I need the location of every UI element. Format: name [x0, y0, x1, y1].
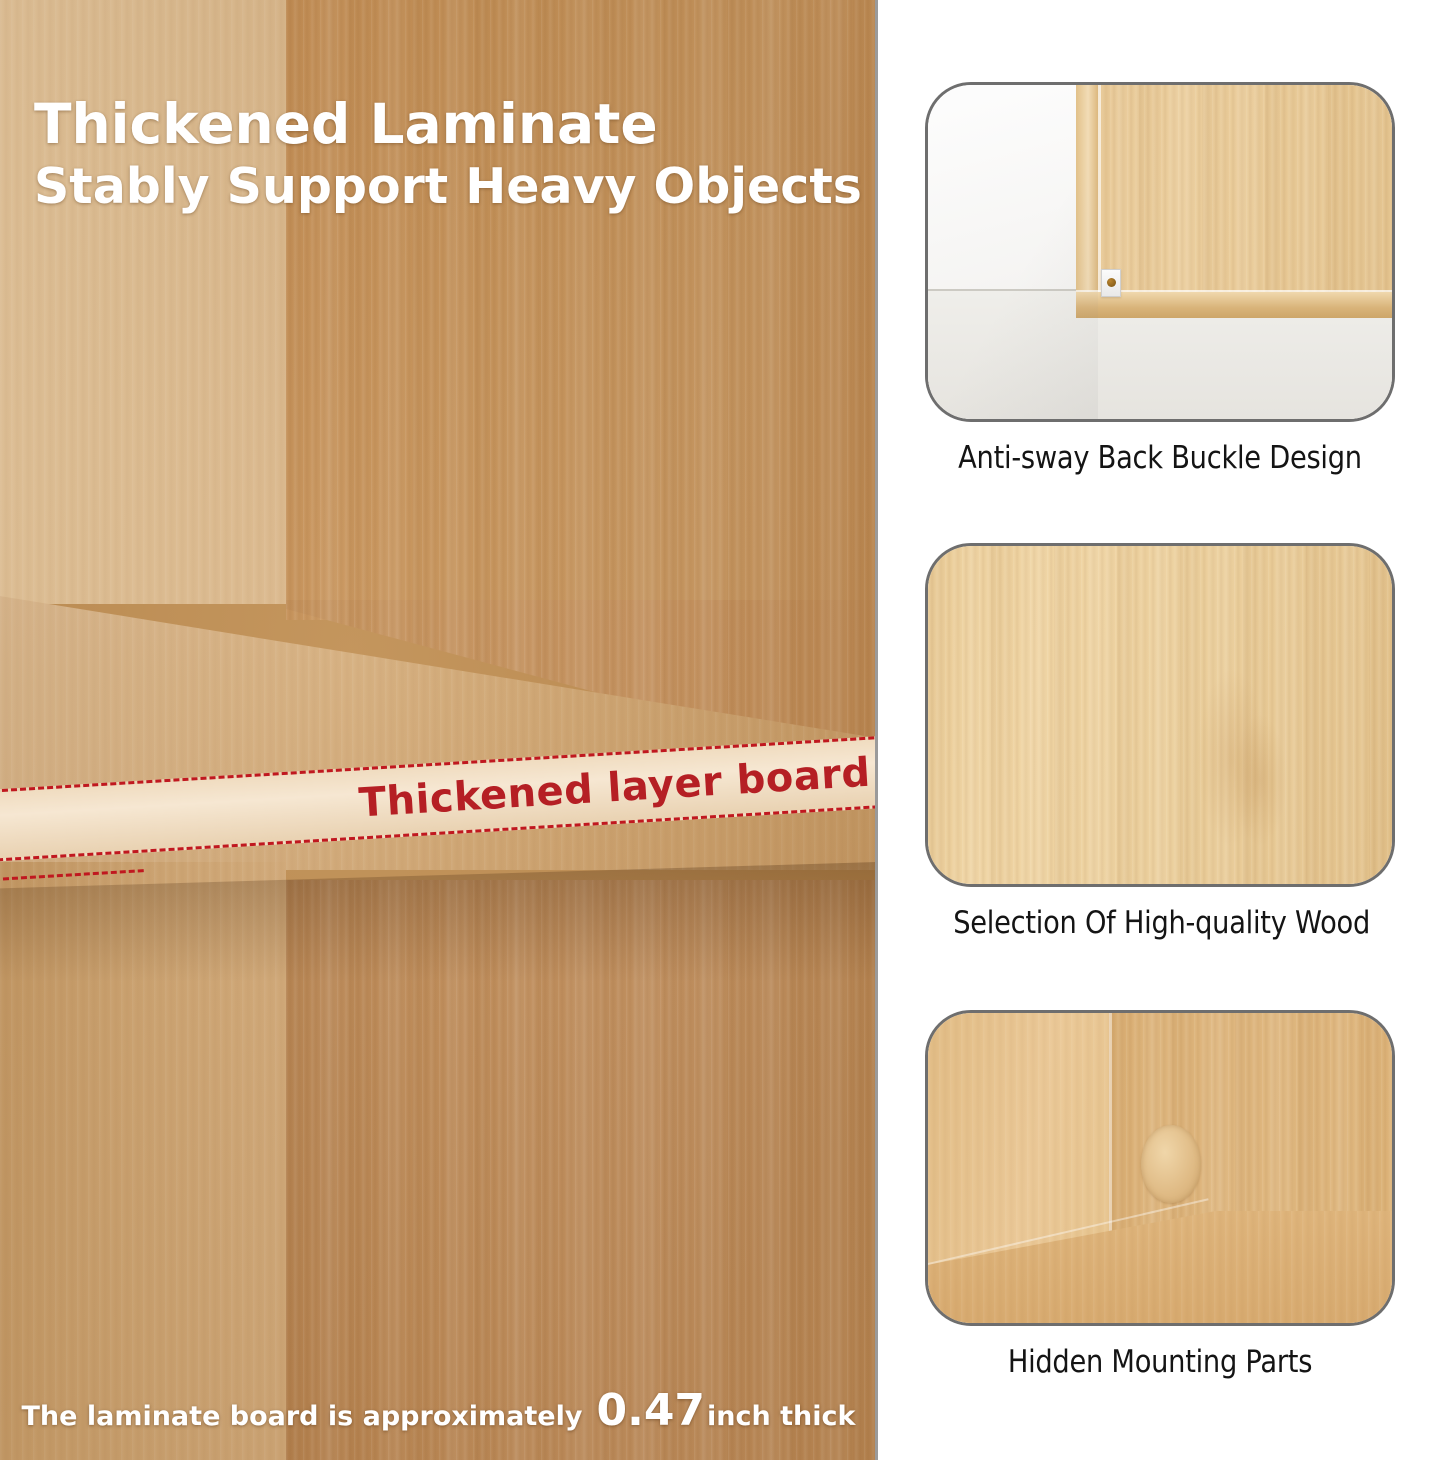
- cabinet-left-side-panel-lower: [0, 862, 286, 1460]
- panel-divider: [875, 0, 878, 1460]
- inner-corner-seam: [1109, 1013, 1112, 1249]
- cabinet-left-side-panel-upper: [0, 0, 286, 604]
- wood-grain-photo: [925, 543, 1395, 887]
- wood-grain-texture: [1076, 85, 1392, 313]
- screw-icon: [1107, 278, 1116, 287]
- hero-shelf-photo: Thickened layer board Thickened Laminate…: [0, 0, 877, 1460]
- back-buckle-photo: [925, 82, 1395, 422]
- panel-seam-highlight: [1098, 85, 1101, 299]
- wood-knot-mark: [1234, 715, 1286, 845]
- feature-caption-hidden-mounting: Hidden Mounting Parts: [953, 1344, 1367, 1380]
- feature-item-hidden-mounting: Hidden Mounting Parts: [925, 1010, 1395, 1380]
- cabinet-back-panel-lower: [286, 880, 877, 1460]
- back-buckle-bracket: [1101, 269, 1121, 297]
- product-feature-infographic: Thickened layer board Thickened Laminate…: [0, 0, 1445, 1460]
- cabinet-back-panel-upper: [286, 0, 877, 620]
- feature-item-back-buckle: Anti-sway Back Buckle Design: [925, 82, 1395, 476]
- cam-lock-cover-cap: [1141, 1125, 1201, 1203]
- feature-item-wood-quality: Selection Of High-quality Wood: [925, 543, 1395, 941]
- feature-caption-back-buckle: Anti-sway Back Buckle Design: [953, 440, 1367, 476]
- wood-grain-texture: [286, 880, 877, 1460]
- wood-grain-texture: [928, 546, 1392, 884]
- wood-grain-texture: [0, 0, 286, 604]
- wood-back-panel: [1076, 85, 1392, 313]
- wood-grain-texture: [0, 862, 286, 1460]
- hidden-mounting-photo: [925, 1010, 1395, 1326]
- feature-list: Anti-sway Back Buckle Design Selection O…: [880, 0, 1445, 1460]
- feature-caption-wood-quality: Selection Of High-quality Wood: [953, 905, 1367, 941]
- bottom-rail: [1076, 292, 1392, 318]
- wall-shadow: [928, 85, 1098, 419]
- wood-grain-texture: [286, 0, 877, 620]
- wood-surface: [928, 546, 1392, 884]
